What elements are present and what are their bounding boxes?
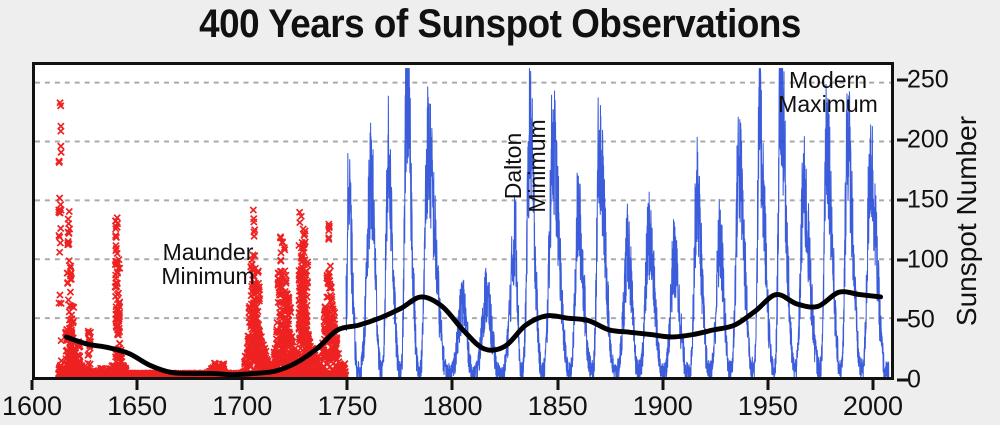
x-axis-tick-mark — [241, 380, 244, 390]
x-axis-tick-mark — [136, 380, 139, 390]
x-axis-tick-label: 1950 — [738, 390, 798, 422]
y-axis-tick-label: 100 — [907, 248, 949, 273]
x-axis-tick-mark — [556, 380, 559, 390]
y-axis-title: Sunspot Number — [947, 62, 987, 380]
x-axis-tick-label: 1750 — [317, 390, 377, 422]
sunspot-chart-figure: 400 Years of Sunspot Observations 050100… — [0, 0, 1000, 425]
x-axis-tick-mark — [346, 380, 349, 390]
y-axis-tick-label: 150 — [907, 188, 949, 213]
plot-area — [32, 62, 894, 380]
x-axis-tick-mark — [661, 380, 664, 390]
x-axis-tick-label: 2000 — [843, 390, 903, 422]
x-axis-tick-label: 1800 — [422, 390, 482, 422]
page-title: 400 Years of Sunspot Observations — [40, 2, 960, 47]
y-axis-tick-label: 0 — [907, 368, 921, 393]
x-axis-tick-mark — [31, 380, 34, 390]
plot-svg — [35, 65, 891, 377]
smoothed-trend-black — [66, 292, 880, 375]
x-axis-tick-mark — [766, 380, 769, 390]
x-axis-tick-label: 1650 — [107, 390, 167, 422]
y-axis-tick-label: 250 — [907, 68, 949, 93]
y-axis-tick-label: 200 — [907, 128, 949, 153]
x-axis-tick-mark — [871, 380, 874, 390]
x-axis-tick-label: 1600 — [2, 390, 62, 422]
x-axis: 160016501700175018001850190019502000 — [32, 380, 894, 425]
x-axis-tick-label: 1700 — [212, 390, 272, 422]
x-axis-tick-mark — [451, 380, 454, 390]
x-axis-tick-label: 1850 — [528, 390, 588, 422]
x-axis-tick-label: 1900 — [633, 390, 693, 422]
y-axis-tick-label: 50 — [907, 308, 935, 333]
